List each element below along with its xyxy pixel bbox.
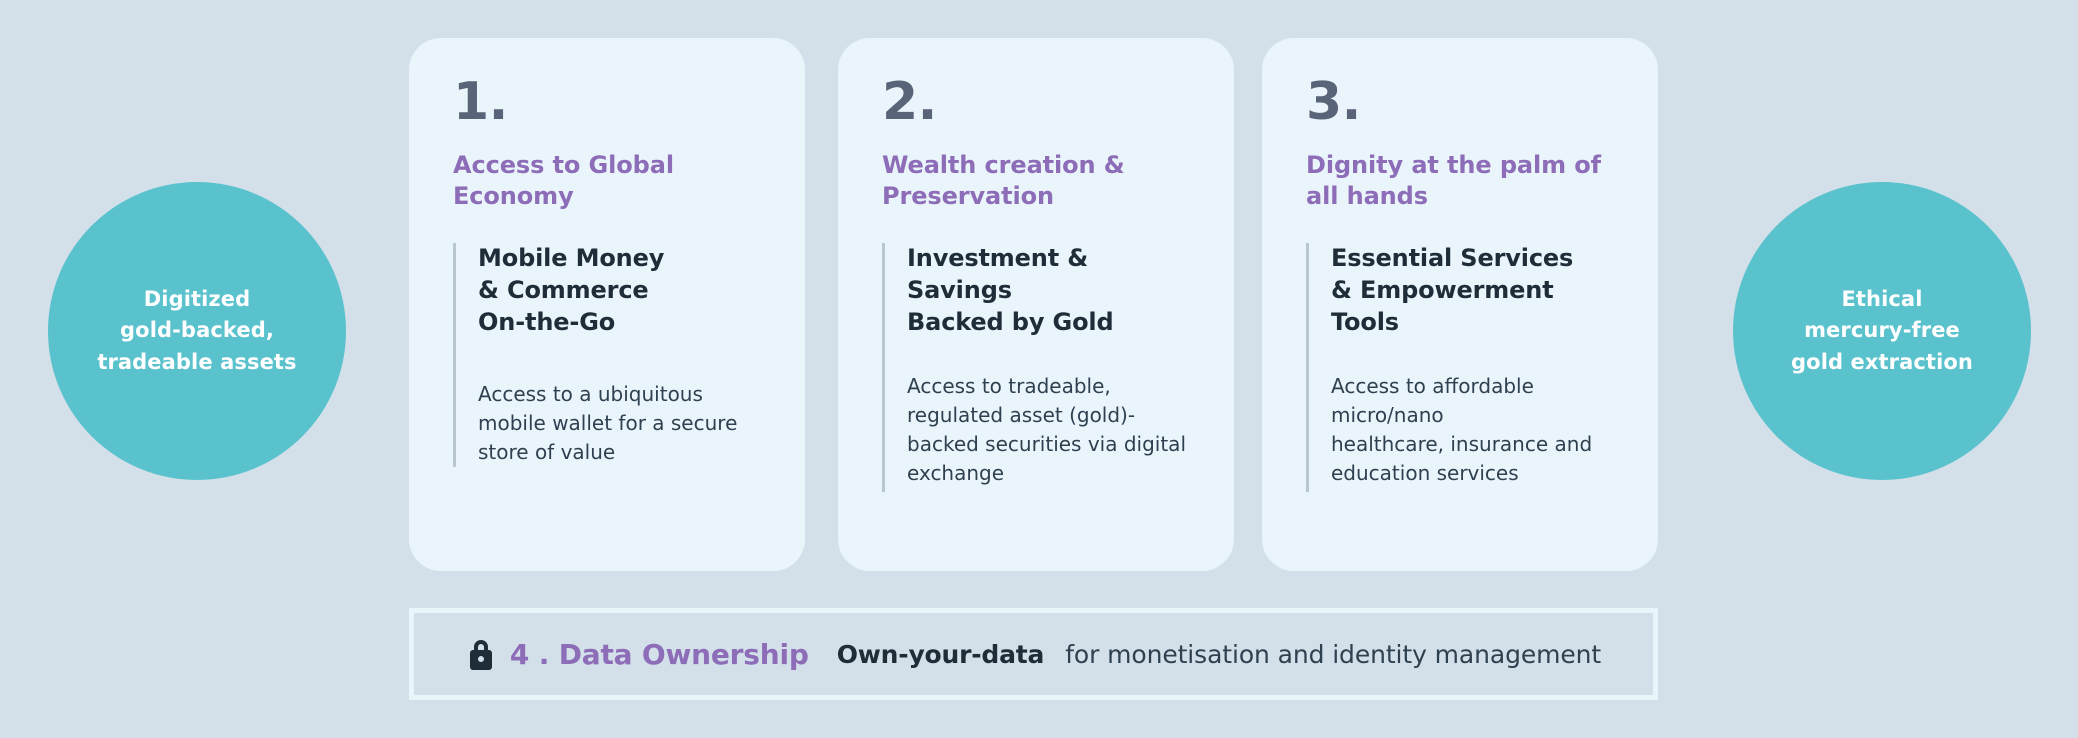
lock-icon (466, 637, 496, 671)
card-subtitle: Mobile Money & Commerce On-the-Go (478, 243, 761, 338)
pillar-card-2: 2. Wealth creation & Preservation Invest… (838, 38, 1234, 571)
card-body: Investment & Savings Backed by Gold Acce… (882, 243, 1190, 492)
card-description: Access to affordable micro/nano healthca… (1331, 372, 1614, 488)
card-body: Essential Services & Empowerment Tools A… (1306, 243, 1614, 492)
card-subtitle: Essential Services & Empowerment Tools (1331, 243, 1614, 338)
banner-label: 4 . Data Ownership (510, 638, 809, 671)
banner-strong-text: Own-your-data (837, 640, 1044, 669)
card-body: Mobile Money & Commerce On-the-Go Access… (453, 243, 761, 467)
card-number: 3. (1306, 76, 1614, 128)
card-number: 1. (453, 76, 761, 128)
card-description: Access to tradeable, regulated asset (go… (907, 372, 1190, 488)
card-description: Access to a ubiquitous mobile wallet for… (478, 380, 761, 467)
infographic-canvas: Digitized gold-backed, tradeable assets … (0, 0, 2078, 738)
right-circle-text: Ethical mercury-free gold extraction (1791, 284, 1973, 377)
left-circle-text: Digitized gold-backed, tradeable assets (97, 284, 296, 377)
pillar-card-1: 1. Access to Global Economy Mobile Money… (409, 38, 805, 571)
banner-content: 4 . Data Ownership Own-your-data for mon… (466, 637, 1601, 671)
card-title: Dignity at the palm of all hands (1306, 150, 1614, 211)
card-number: 2. (882, 76, 1190, 128)
left-circle-badge: Digitized gold-backed, tradeable assets (48, 182, 346, 480)
data-ownership-banner: 4 . Data Ownership Own-your-data for mon… (409, 608, 1658, 700)
right-circle-badge: Ethical mercury-free gold extraction (1733, 182, 2031, 480)
card-title: Access to Global Economy (453, 150, 761, 211)
pillar-card-3: 3. Dignity at the palm of all hands Esse… (1262, 38, 1658, 571)
card-title: Wealth creation & Preservation (882, 150, 1190, 211)
card-subtitle: Investment & Savings Backed by Gold (907, 243, 1190, 338)
banner-rest-text: for monetisation and identity management (1065, 640, 1601, 669)
